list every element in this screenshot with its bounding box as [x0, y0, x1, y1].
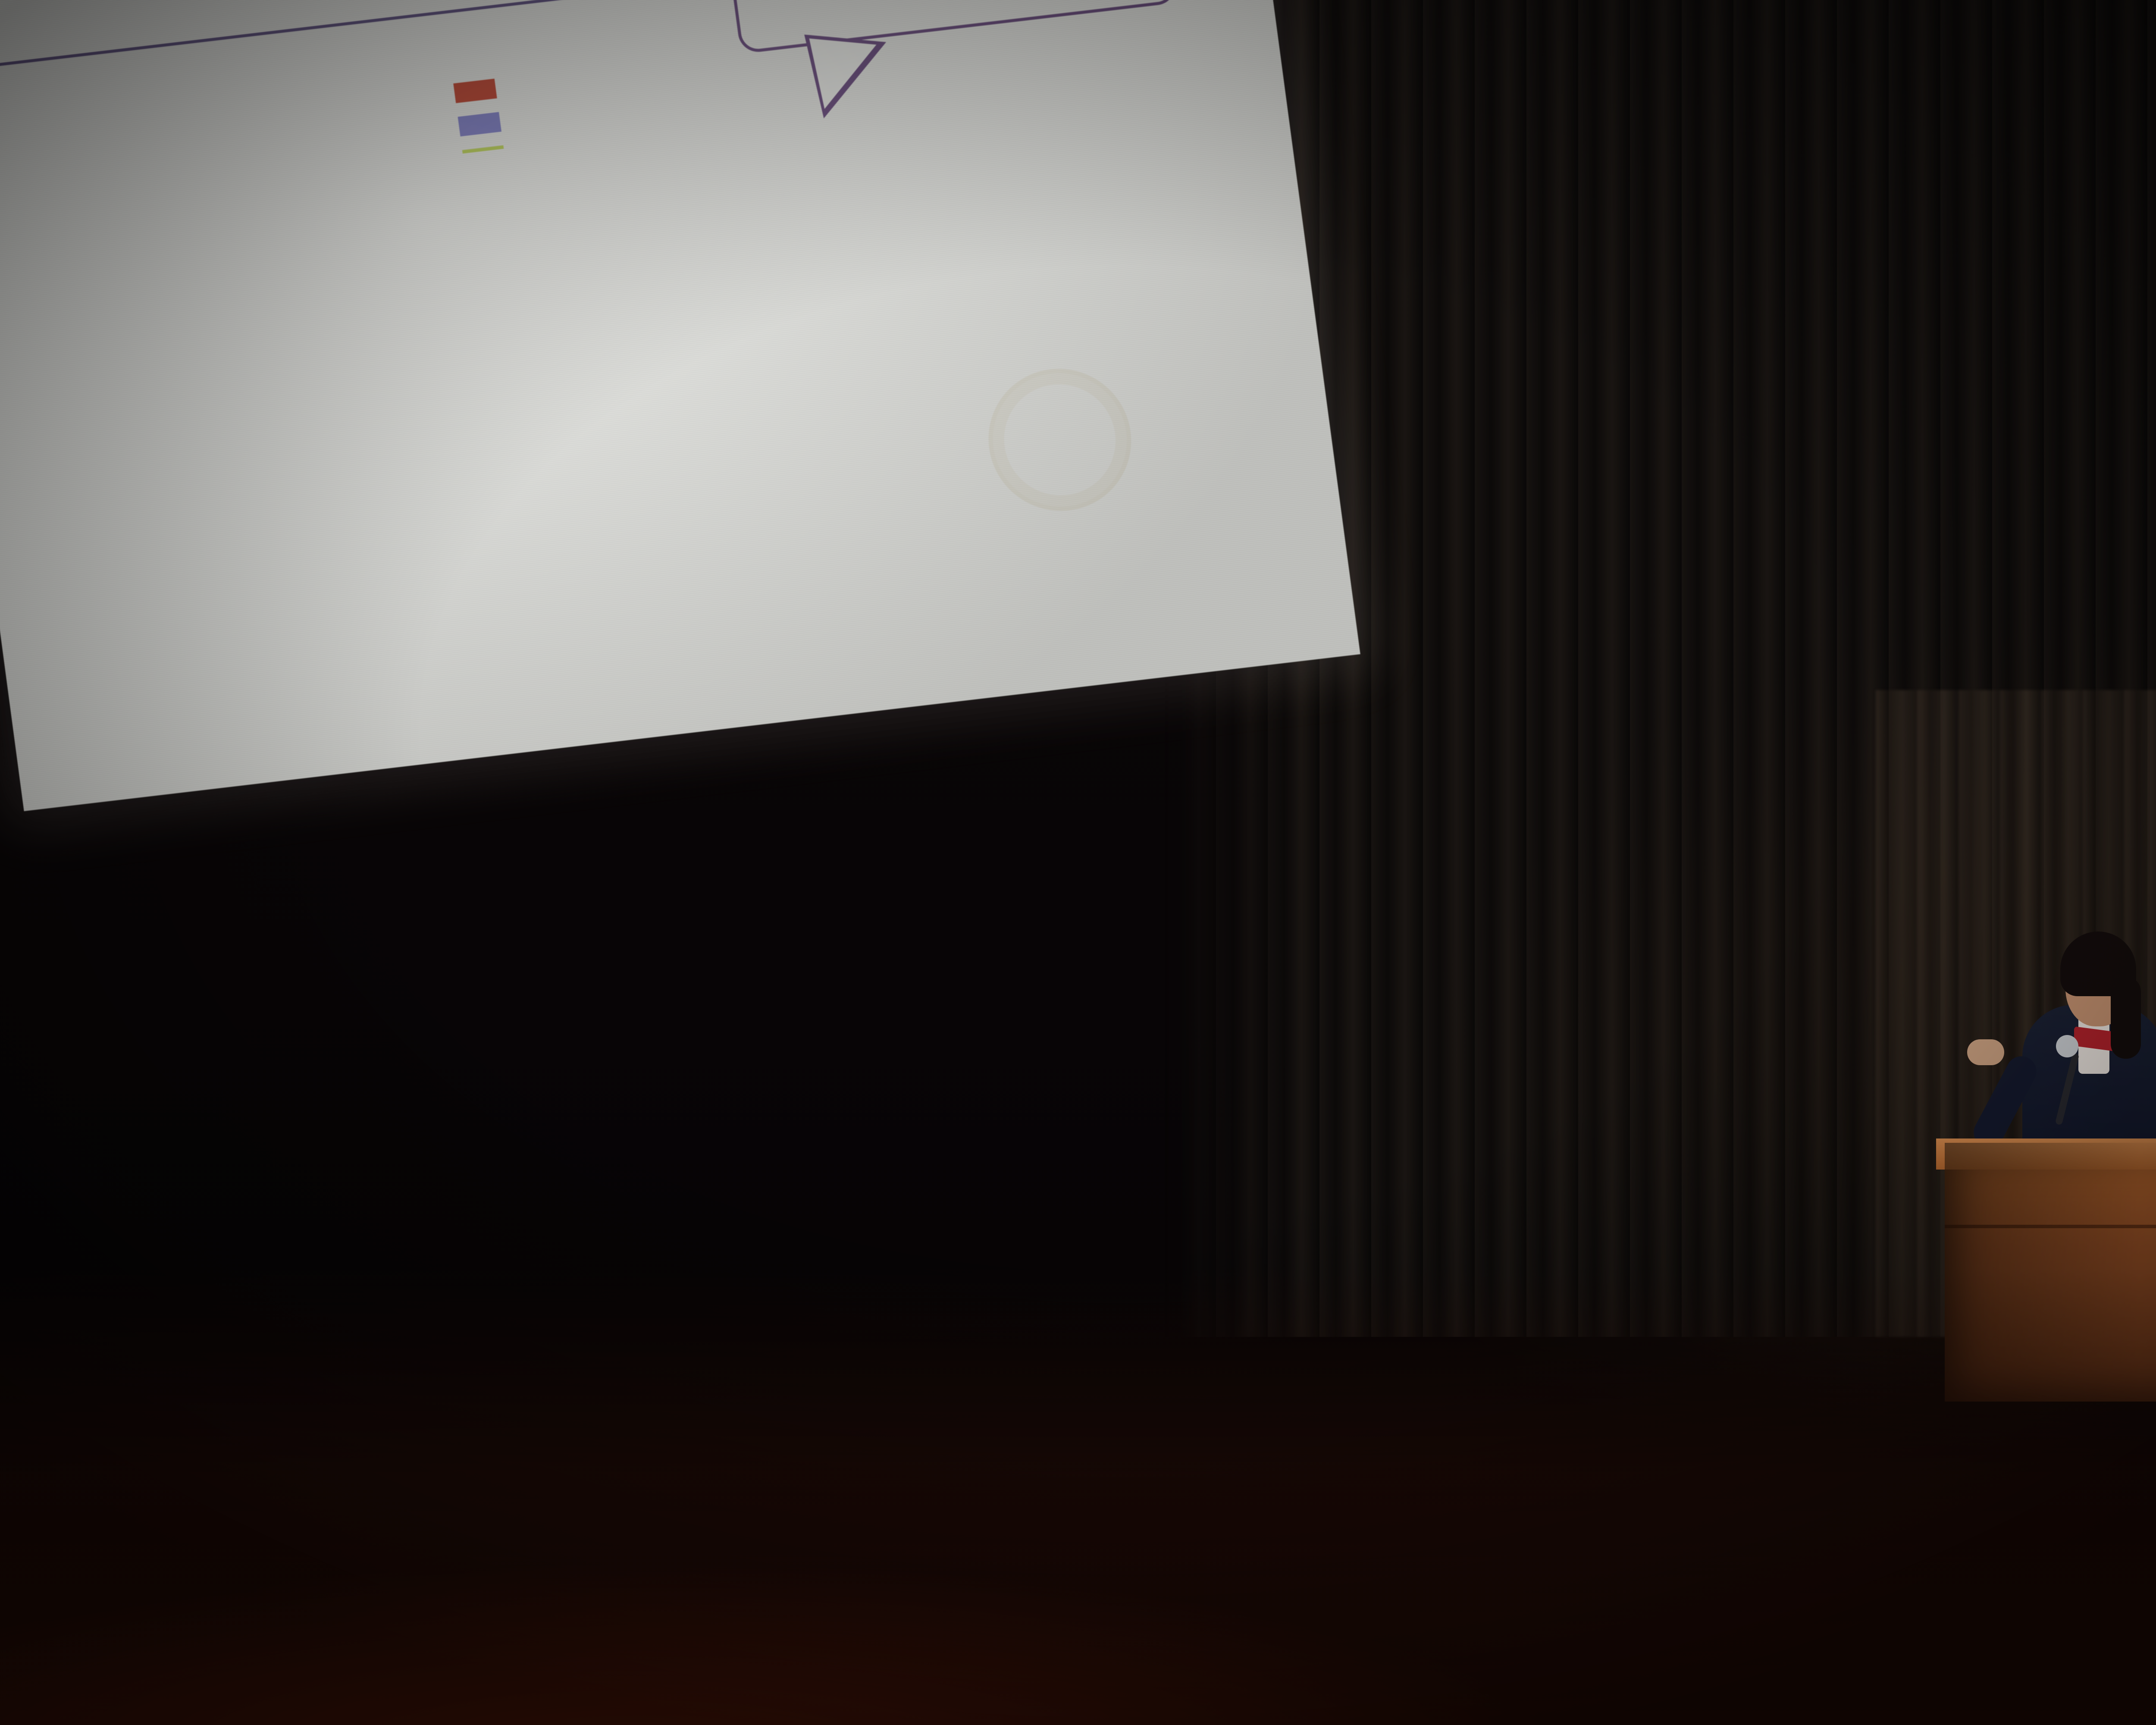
speaker-hand: [1967, 1039, 2004, 1065]
audience-seating-area: [0, 1268, 2156, 1725]
axis-tick-40: [708, 90, 802, 101]
speech-balloon: [692, 0, 1178, 54]
watermark-stamp: [980, 361, 1140, 519]
speaker-ponytail: [2111, 977, 2141, 1059]
axis-tick-20: [708, 90, 802, 101]
microphone-icon[interactable]: [2056, 1035, 2078, 1057]
speech-balloon-tail: [798, 34, 886, 123]
auditorium-scene: [0, 0, 2156, 1725]
axis-tick-60: [703, 56, 798, 67]
